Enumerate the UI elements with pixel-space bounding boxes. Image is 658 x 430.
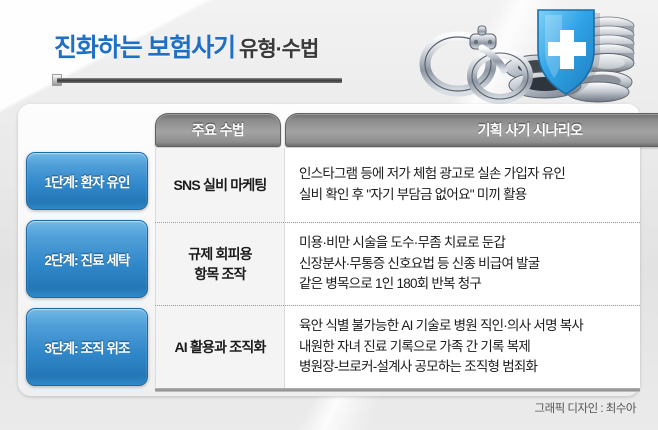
table-bottom-rule bbox=[155, 388, 640, 392]
column-header-scenario-label: 기획 사기 시나리오 bbox=[478, 120, 583, 140]
method-line: 규제 회피용 bbox=[188, 244, 252, 264]
scenario-cell: 육안 식별 불가능한 AI 기술로 병원 직인·의사 서명 복사 내원한 자녀 … bbox=[285, 306, 640, 388]
table-row: AI 활용과 조직화 육안 식별 불가능한 AI 기술로 병원 직인·의사 서명… bbox=[155, 306, 640, 388]
header-artwork bbox=[412, 2, 652, 106]
method-cell: SNS 실비 마케팅 bbox=[155, 148, 285, 222]
scenario-line: 신장분사·무통증 신호요법 등 신종 비급여 발굴 bbox=[299, 254, 640, 275]
step-label-2: 2단계: 진료 세탁 bbox=[44, 249, 129, 269]
step-item-3: 3단계: 조직 위조 bbox=[26, 308, 148, 386]
scenario-line: 내원한 자녀 진료 기록으로 가족 간 기록 복제 bbox=[299, 337, 640, 358]
page-title: 진화하는 보험사기유형·수법 bbox=[54, 28, 318, 64]
column-header-methods-label: 주요 수법 bbox=[192, 120, 244, 140]
column-header-methods: 주요 수법 bbox=[155, 113, 281, 147]
scenario-line: 실비 확인 후 "자기 부담금 없어요" 미끼 활용 bbox=[299, 185, 640, 206]
method-cell: AI 활용과 조직화 bbox=[155, 306, 285, 388]
column-header-scenario: 기획 사기 시나리오 bbox=[285, 113, 658, 147]
step-label-3: 3단계: 조직 위조 bbox=[44, 337, 129, 357]
scenario-line: 미용·비만 시술을 도수·무좀 치료로 둔갑 bbox=[299, 233, 640, 254]
title-main: 진화하는 보험사기 bbox=[54, 34, 235, 62]
infographic-root: 진화하는 보험사기유형·수법 bbox=[0, 0, 658, 430]
header: 진화하는 보험사기유형·수법 bbox=[0, 0, 658, 105]
scenario-line: 같은 병목으로 1인 180회 반복 청구 bbox=[299, 274, 640, 295]
table-row: SNS 실비 마케팅 인스타그램 등에 저가 체험 광고로 실손 가입자 유인 … bbox=[155, 148, 640, 222]
method-line: AI 활용과 조직화 bbox=[174, 337, 265, 357]
step-list: 1단계: 환자 유인 2단계: 진료 세탁 3단계: 조직 위조 bbox=[26, 150, 148, 390]
title-divider bbox=[57, 78, 342, 83]
artwork-svg bbox=[412, 2, 652, 106]
scenario-cell: 미용·비만 시술을 도수·무좀 치료로 둔갑 신장분사·무통증 신호요법 등 신… bbox=[285, 223, 640, 305]
scenario-line: 육안 식별 불가능한 AI 기술로 병원 직인·의사 서명 복사 bbox=[299, 316, 640, 337]
step-item-2: 2단계: 진료 세탁 bbox=[26, 220, 148, 298]
method-line: 항목 조작 bbox=[188, 264, 252, 284]
graphic-credit: 그래픽 디자인 : 최수아 bbox=[535, 400, 637, 416]
step-label-1: 1단계: 환자 유인 bbox=[44, 171, 129, 191]
scenario-line: 병원장-브로커-설계사 공모하는 조직형 범죄화 bbox=[299, 357, 640, 378]
table-body: SNS 실비 마케팅 인스타그램 등에 저가 체험 광고로 실손 가입자 유인 … bbox=[155, 148, 640, 388]
scenario-cell: 인스타그램 등에 저가 체험 광고로 실손 가입자 유인 실비 확인 후 "자기… bbox=[285, 148, 640, 222]
method-line: SNS 실비 마케팅 bbox=[174, 175, 267, 195]
table-row: 규제 회피용 항목 조작 미용·비만 시술을 도수·무좀 치료로 둔갑 신장분사… bbox=[155, 223, 640, 305]
title-sub: 유형·수법 bbox=[239, 38, 318, 61]
step-item-1: 1단계: 환자 유인 bbox=[26, 152, 148, 210]
method-cell: 규제 회피용 항목 조작 bbox=[155, 223, 285, 305]
scenario-line: 인스타그램 등에 저가 체험 광고로 실손 가입자 유인 bbox=[299, 164, 640, 185]
